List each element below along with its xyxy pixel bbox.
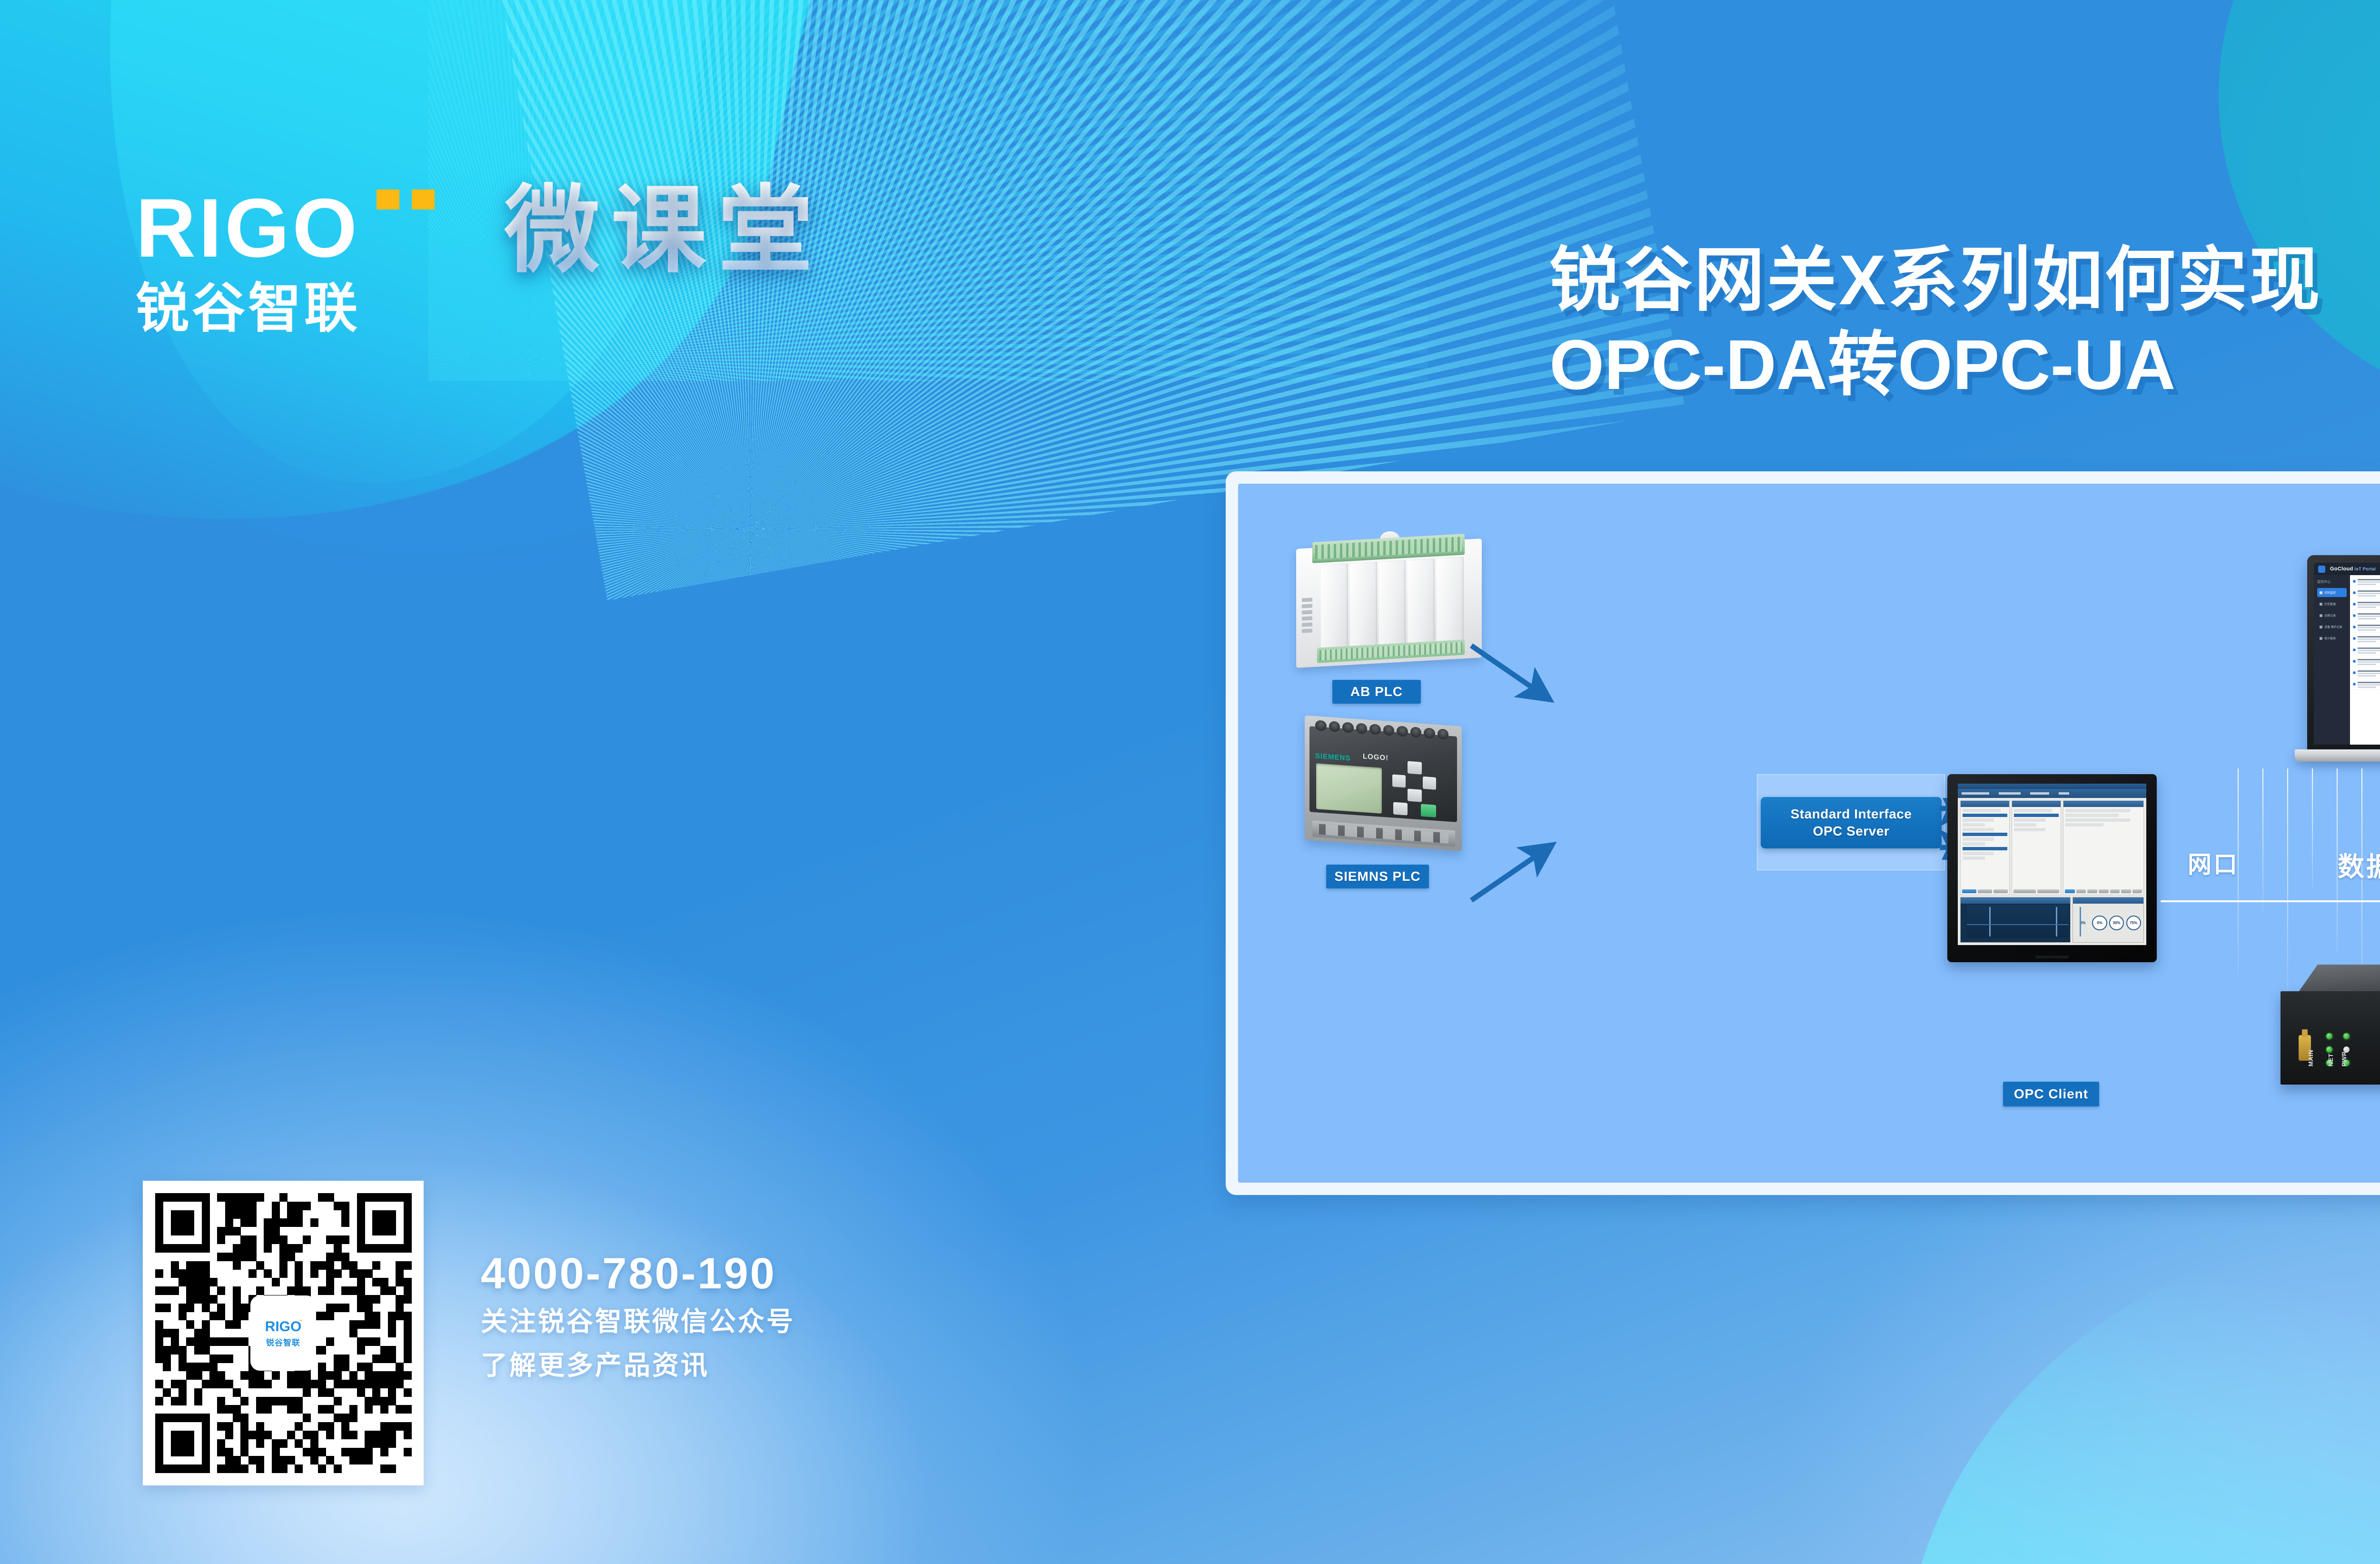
ethernet-link-line [2161,900,2380,902]
title-line-2: OPC-DA转OPC-UA [1549,323,2322,408]
gauge-value-2: 30% [2109,916,2124,930]
diagram-panel: AB PLC SIEMENS LOGO! SIEMNS PLC [1226,471,2380,1195]
qr-logo-text: RIGO•• [265,1319,302,1335]
list-item[interactable] [2352,680,2380,690]
siemens-plc-label: SIEMNS PLC [1326,865,1429,888]
sidebar-item-3[interactable]: 设备 维护记录 [2317,622,2347,631]
sidebar-item-1[interactable]: 历史数据 [2317,599,2347,608]
list-item[interactable] [2352,578,2380,587]
list-item[interactable] [2352,669,2380,678]
list-item[interactable] [2352,635,2380,644]
list-item[interactable] [2352,623,2380,633]
siemens-plc-device-image: SIEMENS LOGO! [1305,712,1462,855]
list-item[interactable] [2352,589,2380,598]
gauge-value-1: 0% [2092,916,2107,930]
sidebar-item-2[interactable]: 运维记录 [2317,611,2347,620]
rigo-gateway-device-image: MAIN NET PWR USB RST RX2 TX2 GND B1 RX1 … [2281,965,2380,1107]
opc-client-monitor-image: 0% 0% 30% 75% [1947,774,2157,962]
page-title: 锐谷网关X系列如何实现 OPC-DA转OPC-UA [1549,238,2322,408]
device-list[interactable] [2350,575,2380,745]
ab-plc-device-image [1296,531,1482,669]
ab-plc-label: AB PLC [1332,680,1421,704]
footer-line-1: 关注锐谷智联微信公众号 [481,1300,795,1344]
qr-logo-cn: 锐谷智联 [266,1336,300,1348]
opc-server-line-1: Standard Interface [1791,807,1912,822]
sidebar-item-0[interactable]: 实时监控 [2317,588,2347,597]
phone-number: 4000-780-190 [481,1247,795,1300]
gateway-label-pwr: PWR [2340,1051,2348,1066]
qr-code-pattern: RIGO•• 锐谷智联 [155,1193,411,1473]
network-port-label: 网口 [2188,846,2239,880]
sidebar-title: 监控中心 [2317,579,2347,584]
data-platform-laptop-image: GoCloudIoT Portal 首页 设备中心 告警中心 监控中心 统计中心… [2295,555,2380,784]
opc-server-line-2: OPC Server [1813,824,1890,839]
gocloud-brand: GoCloudIoT Portal [2330,566,2376,572]
list-item[interactable] [2352,600,2380,610]
title-line-1: 锐谷网关X系列如何实现 [1549,238,2322,323]
gateway-label-main: MAIN [2307,1050,2314,1066]
opc-client-label: OPC Client [2003,1082,2099,1106]
qr-center-logo: RIGO•• 锐谷智联 [252,1297,314,1369]
brand-logo: RIGO 锐谷智联 [136,186,450,337]
footer-line-2: 了解更多产品资讯 [481,1344,795,1387]
gocloud-logo-icon [2318,566,2325,573]
opc-client-gauges: 0% 0% 30% 75% [2073,904,2143,942]
list-item[interactable] [2352,657,2380,667]
data-platform-label: 数据平台 [2338,846,2380,884]
rigo-wordmark: RIGO [136,186,450,276]
gateway-label-net: NET [2327,1054,2334,1067]
gauge-value-0: 0% [2075,916,2090,930]
sidebar-item-4[interactable]: 统计报表 [2317,634,2347,643]
gauge-value-3: 75% [2126,916,2141,930]
contact-block: 4000-780-190 关注锐谷智联微信公众号 了解更多产品资讯 [481,1247,795,1387]
list-item[interactable] [2352,612,2380,621]
diagram-canvas: AB PLC SIEMENS LOGO! SIEMNS PLC [1238,484,2380,1183]
rigo-logo-cn-text: 锐谷智联 [136,280,450,337]
arrow-plcs-to-opc-server [1467,641,1771,907]
umlaut-icon [377,189,435,209]
list-item[interactable] [2352,646,2380,656]
wechat-qr-code[interactable]: RIGO•• 锐谷智联 [143,1181,424,1485]
program-name-text: 微课堂 [505,181,824,281]
opc-server-box: Standard Interface OPC Server [1761,797,1942,848]
